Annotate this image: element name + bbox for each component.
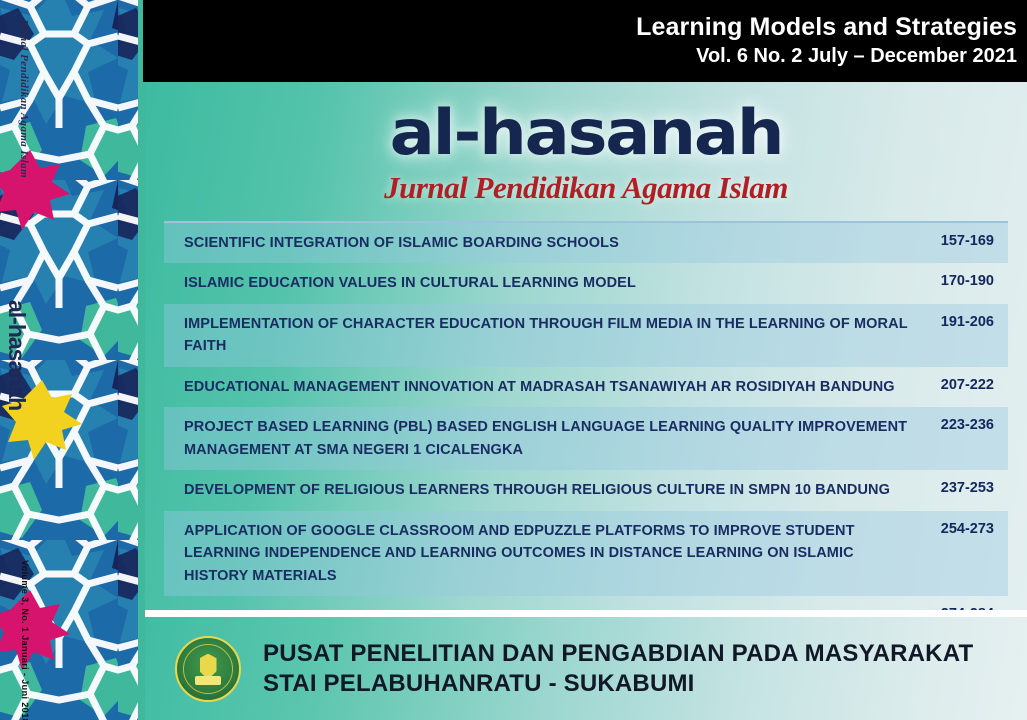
toc-page-range: 207-222: [927, 376, 994, 393]
stai-pelabuhanratu-seal-icon: [175, 636, 241, 702]
cover-main-panel: al-hasanah Jurnal Pendidikan Agama Islam…: [145, 82, 1027, 610]
toc-page-range: 254-273: [927, 520, 994, 537]
publisher-line-2: STAI PELABUHANRATU - SUKABUMI: [263, 669, 973, 699]
toc-row[interactable]: DEVELOPMENT OF RELIGIOUS LEARNERS THROUG…: [164, 470, 1008, 510]
spine-text-band: Jurnal Pendidikan Agama Islam al-hasanah…: [0, 0, 30, 720]
journal-logo-subtitle: Jurnal Pendidikan Agama Islam: [145, 170, 1027, 206]
toc-article-title: ISLAMIC EDUCATION VALUES IN CULTURAL LEA…: [184, 272, 636, 294]
toc-row[interactable]: SCIENTIFIC INTEGRATION OF ISLAMIC BOARDI…: [164, 223, 1008, 263]
toc-row[interactable]: LEARNING MODELS AND STRATEGIES274-284: [164, 596, 1008, 610]
toc-row[interactable]: APPLICATION OF GOOGLE CLASSROOM AND EDPU…: [164, 511, 1008, 596]
toc-page-range: 223-236: [927, 416, 994, 433]
journal-logo-wordmark: al-hasanah: [145, 96, 1027, 169]
publisher-footer: PUSAT PENELITIAN DAN PENGABDIAN PADA MAS…: [145, 617, 1027, 720]
toc-article-title: EDUCATIONAL MANAGEMENT INNOVATION AT MAD…: [184, 376, 895, 398]
toc-article-title: APPLICATION OF GOOGLE CLASSROOM AND EDPU…: [184, 520, 919, 587]
issue-volume-line: Vol. 6 No. 2 July – December 2021: [696, 44, 1017, 68]
toc-page-range: 237-253: [927, 479, 994, 496]
toc-row[interactable]: EDUCATIONAL MANAGEMENT INNOVATION AT MAD…: [164, 367, 1008, 407]
journal-masthead: al-hasanah Jurnal Pendidikan Agama Islam: [145, 82, 1027, 222]
toc-article-title: LEARNING MODELS AND STRATEGIES: [184, 605, 459, 610]
spine-panel: Jurnal Pendidikan Agama Islam al-hasanah…: [0, 0, 145, 720]
issue-theme-title: Learning Models and Strategies: [636, 14, 1017, 42]
publisher-line-1: PUSAT PENELITIAN DAN PENGABDIAN PADA MAS…: [263, 639, 973, 669]
table-of-contents: SCIENTIFIC INTEGRATION OF ISLAMIC BOARDI…: [164, 221, 1008, 610]
spine-volume-text: Volume 3, No. 1 Januari - Juni 2018: [20, 0, 30, 720]
toc-row[interactable]: ISLAMIC EDUCATION VALUES IN CULTURAL LEA…: [164, 263, 1008, 303]
toc-article-title: IMPLEMENTATION OF CHARACTER EDUCATION TH…: [184, 313, 919, 358]
toc-article-title: SCIENTIFIC INTEGRATION OF ISLAMIC BOARDI…: [184, 232, 619, 254]
cover-header-bar: Learning Models and Strategies Vol. 6 No…: [145, 0, 1027, 82]
toc-page-range: 191-206: [927, 313, 994, 330]
toc-row[interactable]: IMPLEMENTATION OF CHARACTER EDUCATION TH…: [164, 304, 1008, 367]
publisher-text-block: PUSAT PENELITIAN DAN PENGABDIAN PADA MAS…: [263, 639, 973, 699]
toc-page-range: 274-284: [927, 605, 994, 610]
toc-article-title: DEVELOPMENT OF RELIGIOUS LEARNERS THROUG…: [184, 479, 890, 501]
toc-article-title: PROJECT BASED LEARNING (PBL) BASED ENGLI…: [184, 416, 919, 461]
toc-page-range: 157-169: [927, 232, 994, 249]
toc-row[interactable]: PROJECT BASED LEARNING (PBL) BASED ENGLI…: [164, 407, 1008, 470]
journal-cover: Jurnal Pendidikan Agama Islam al-hasanah…: [0, 0, 1027, 720]
toc-page-range: 170-190: [927, 272, 994, 289]
